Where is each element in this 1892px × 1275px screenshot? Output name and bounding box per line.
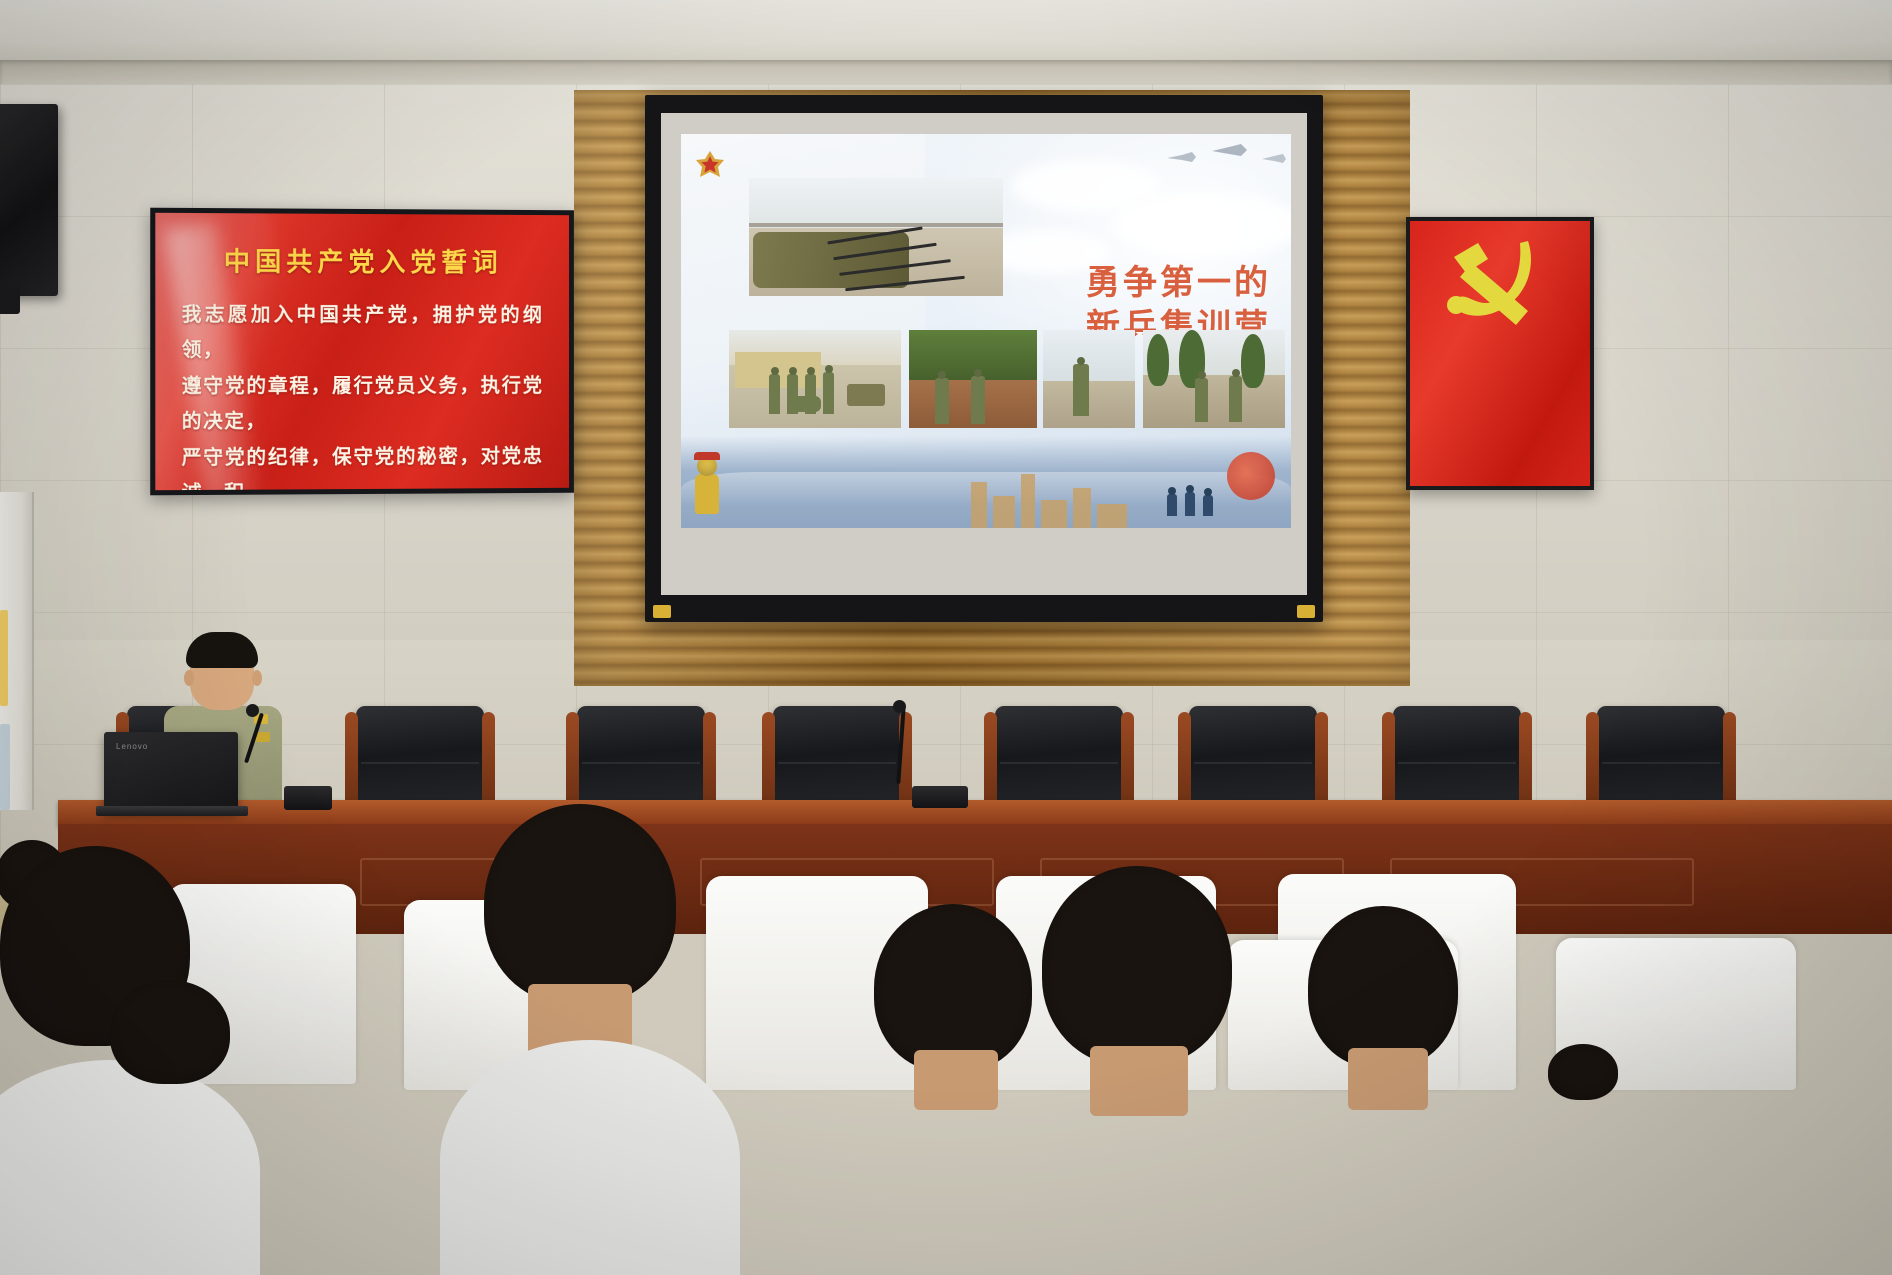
oath-line: 遵守党的章程，履行党员义务，执行党的决定， [182, 368, 544, 440]
podium-mic-base [284, 786, 332, 810]
jet-icon [1166, 150, 1200, 166]
oath-line: 我志愿加入中国共产党，拥护党的纲领， [182, 297, 544, 369]
stage-chair[interactable] [1586, 706, 1736, 806]
slide-photo-right [1143, 330, 1285, 428]
skyline-building [993, 496, 1015, 528]
slide-skyline-decor [681, 436, 1291, 528]
mascot-hat-icon [694, 452, 720, 460]
oath-banner-title: 中国共产党入党誓词 [155, 241, 569, 280]
cloud-shape [1111, 192, 1291, 258]
presenter-hair [186, 632, 258, 668]
lecture-hall-photo: 勇争第一的 新兵集训营 [0, 0, 1892, 1275]
photo-fence [749, 223, 1003, 227]
photo-sky [1043, 330, 1135, 381]
skyline-building [971, 482, 987, 528]
pla-star-emblem-icon [695, 150, 725, 184]
audience-neck [1348, 1048, 1428, 1110]
slide-photo-left [729, 330, 901, 428]
skyline-building [1041, 500, 1067, 528]
table-mic-base [912, 786, 968, 808]
stage-chair[interactable] [345, 706, 495, 806]
party-flag-panel [1406, 217, 1594, 490]
jet-icon [1261, 152, 1289, 166]
foliage [909, 330, 1037, 382]
oath-banner-body: 我志愿加入中国共产党，拥护党的纲领， 遵守党的章程，履行党员义务，执行党的决定，… [182, 297, 544, 496]
soldier-figure [1195, 378, 1208, 422]
skyline-building [1073, 488, 1091, 528]
stage-chair[interactable] [984, 706, 1134, 806]
audience-neck [1090, 1046, 1188, 1116]
tree-icon [1147, 334, 1169, 386]
ceiling-soffit [0, 60, 1892, 86]
table-mic-head-icon[interactable] [893, 700, 906, 713]
presenter-laptop[interactable]: Lenovo [104, 732, 238, 812]
slide-photo-main [749, 178, 1003, 296]
slide-photo-mid2 [1043, 330, 1135, 428]
photo-sky [749, 178, 1003, 228]
laptop-brand-label: Lenovo [116, 742, 148, 751]
left-cabinet [0, 492, 34, 810]
party-oath-banner: 中国共产党入党誓词 我志愿加入中国共产党，拥护党的纲领， 遵守党的章程，履行党员… [150, 208, 574, 496]
screen-clip-left [653, 605, 671, 618]
audience-shoulders [440, 1040, 740, 1275]
audience-head [874, 904, 1032, 1072]
skyline-building [1097, 504, 1127, 528]
photo-truck [847, 384, 885, 406]
stage-table-top [58, 800, 1892, 826]
mascot-body [695, 474, 719, 514]
stage-chair[interactable] [1178, 706, 1328, 806]
cabinet-yellow-strip [0, 610, 8, 706]
presentation-slide: 勇争第一的 新兵集训营 [681, 134, 1291, 528]
soldier-figure [1203, 495, 1213, 516]
stage-chair[interactable] [566, 706, 716, 806]
skyline-building [1021, 474, 1035, 528]
audience-head [110, 980, 230, 1084]
audience-head [484, 804, 676, 1004]
presenter-ear [252, 670, 262, 686]
wall-speaker-icon [0, 104, 58, 296]
audience-shoulders [0, 1060, 260, 1275]
soldier-figure [769, 374, 780, 414]
soldier-figure [971, 376, 985, 424]
oath-line: 严守党的纪律，保守党的秘密，对党忠诚，积 [182, 438, 544, 495]
podium-mic-head-icon[interactable] [246, 704, 259, 717]
soldier-figure [1185, 492, 1195, 516]
tree-icon [1241, 334, 1265, 388]
soldier-figure [1167, 494, 1177, 516]
audience-head [1548, 1044, 1618, 1100]
slide-title-line1: 勇争第一的 [1086, 262, 1271, 306]
soldier-figure [935, 378, 949, 424]
soldier-figure [1229, 376, 1242, 422]
soldier-figure [823, 372, 834, 414]
projection-screen[interactable]: 勇争第一的 新兵集训营 [645, 95, 1323, 622]
cabinet-blue-strip [0, 724, 10, 810]
audience-head [1308, 906, 1458, 1068]
audience-neck [914, 1050, 998, 1110]
screen-clip-right [1297, 605, 1315, 618]
screen-surface: 勇争第一的 新兵集训营 [661, 113, 1307, 595]
mini-troops-decor [1161, 476, 1239, 516]
stage-chair[interactable] [1382, 706, 1532, 806]
soldier-figure [1073, 364, 1089, 416]
laptop-base [96, 806, 248, 816]
presenter-ear [184, 670, 194, 686]
cartoon-soldier-mascot [687, 450, 727, 514]
photo-ground [1043, 381, 1135, 428]
jet-icon [1211, 142, 1251, 160]
soldier-prone [791, 396, 821, 412]
slide-photo-mid1 [909, 330, 1037, 428]
audience-head [1042, 866, 1232, 1066]
stage-chair[interactable] [762, 706, 912, 806]
hammer-and-sickle-icon [1432, 235, 1544, 339]
